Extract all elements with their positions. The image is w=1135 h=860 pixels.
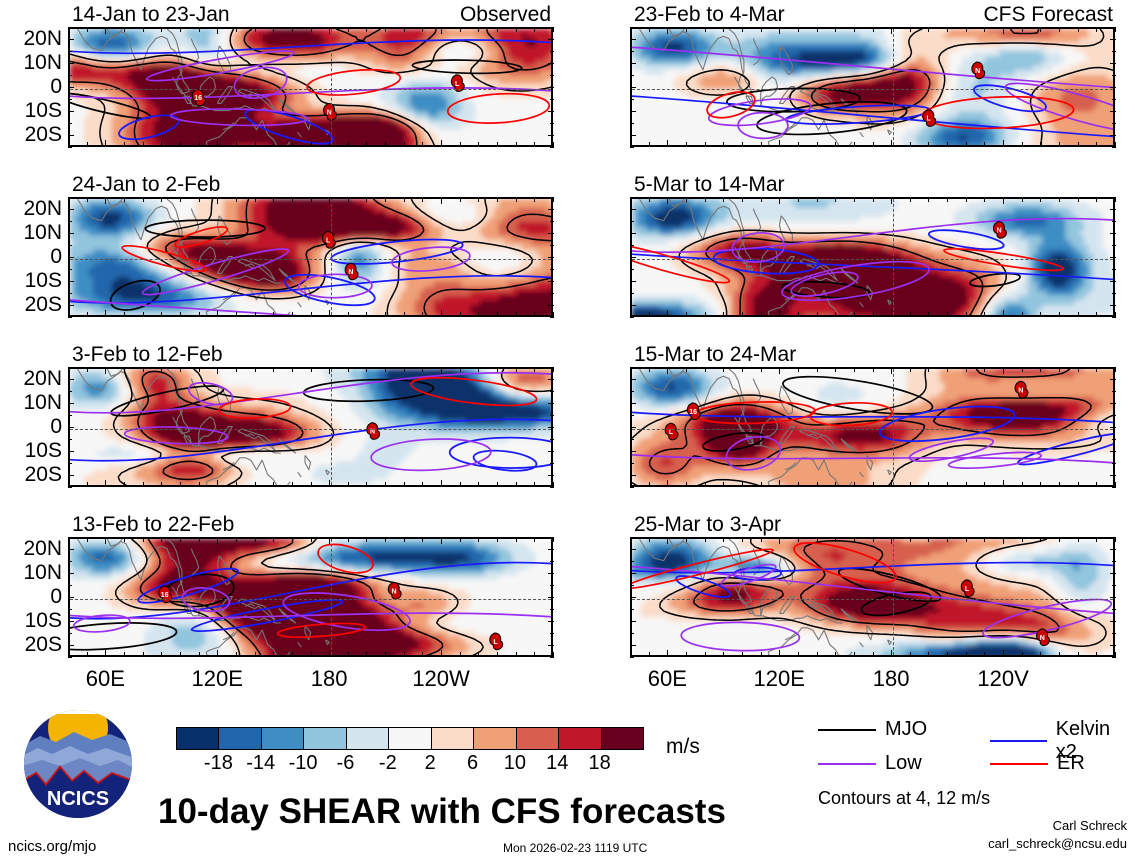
x-axis-minor-tick	[966, 537, 967, 542]
x-axis-minor-tick	[649, 652, 650, 657]
x-axis-minor-tick	[87, 142, 88, 147]
x-axis-minor-tick	[553, 197, 554, 202]
x-axis-minor-tick	[422, 537, 423, 542]
logo-wordmark: NCICS	[47, 788, 109, 810]
x-axis-minor-tick	[478, 652, 479, 657]
x-axis-minor-tick	[835, 367, 836, 372]
x-axis-minor-tick	[460, 142, 461, 147]
x-axis-minor-tick	[143, 27, 144, 32]
x-axis-minor-tick	[516, 197, 517, 202]
x-axis-minor-tick	[910, 537, 911, 542]
colorbar-swatch	[473, 728, 515, 749]
x-axis-tick	[329, 27, 330, 34]
x-axis-label: 120V	[977, 666, 1028, 692]
x-axis-minor-tick	[723, 197, 724, 202]
y-axis-minor-tick	[550, 51, 554, 52]
y-axis-tick	[630, 475, 636, 476]
y-axis-tick	[630, 645, 636, 646]
panel-title: 24-Jan to 2-Feb	[72, 173, 220, 197]
x-axis-minor-tick	[273, 482, 274, 487]
y-axis-label: 20S	[0, 634, 62, 655]
x-axis-minor-tick	[686, 142, 687, 147]
x-axis-tick	[779, 480, 780, 487]
y-axis-minor-tick	[68, 657, 72, 658]
x-axis-minor-tick	[742, 27, 743, 32]
colorbar-tick-label: -14	[246, 752, 275, 775]
x-axis-minor-tick	[255, 652, 256, 657]
y-axis-tick	[1110, 111, 1116, 112]
x-axis-minor-tick	[497, 537, 498, 542]
x-axis-minor-tick	[143, 197, 144, 202]
x-axis-minor-tick	[460, 537, 461, 542]
x-axis-minor-tick	[910, 367, 911, 372]
x-axis-minor-tick	[404, 537, 405, 542]
y-axis-minor-tick	[550, 221, 554, 222]
x-axis-minor-tick	[742, 367, 743, 372]
x-axis-tick	[105, 27, 106, 34]
y-axis-minor-tick	[550, 147, 554, 148]
x-axis-label: 60E	[648, 666, 687, 692]
x-axis-minor-tick	[1022, 482, 1023, 487]
x-axis-minor-tick	[87, 27, 88, 32]
x-axis-minor-tick	[497, 367, 498, 372]
x-axis-minor-tick	[1022, 197, 1023, 202]
y-axis-minor-tick	[630, 391, 634, 392]
x-axis-minor-tick	[817, 482, 818, 487]
dateline-line	[893, 29, 894, 145]
y-axis-tick	[1110, 451, 1116, 452]
x-axis-minor-tick	[742, 312, 743, 317]
y-axis-minor-tick	[68, 487, 72, 488]
x-axis-minor-tick	[1115, 482, 1116, 487]
x-axis-tick	[329, 197, 330, 204]
y-axis-minor-tick	[550, 75, 554, 76]
column-tag: CFS Forecast	[983, 3, 1113, 27]
x-axis-minor-tick	[87, 367, 88, 372]
y-axis-tick	[548, 621, 554, 622]
y-axis-tick	[68, 379, 74, 380]
x-axis-minor-tick	[984, 537, 985, 542]
x-axis-minor-tick	[87, 652, 88, 657]
y-axis-tick	[68, 111, 74, 112]
x-axis-minor-tick	[68, 142, 69, 147]
x-axis-tick	[779, 367, 780, 374]
y-axis-minor-tick	[550, 609, 554, 610]
x-axis-tick	[105, 650, 106, 657]
x-axis-tick	[217, 537, 218, 544]
x-axis-minor-tick	[723, 142, 724, 147]
colorbar-tick-label: -10	[289, 752, 318, 775]
shear-anomaly-shading	[70, 539, 553, 657]
x-axis-minor-tick	[705, 367, 706, 372]
x-axis-minor-tick	[404, 142, 405, 147]
dateline-line	[331, 29, 332, 145]
y-axis-tick	[68, 427, 74, 428]
x-axis-minor-tick	[348, 652, 349, 657]
colorbar-tick-label: 14	[546, 752, 568, 775]
x-axis-minor-tick	[292, 367, 293, 372]
y-axis-label: 20S	[0, 464, 62, 485]
y-axis-minor-tick	[630, 293, 634, 294]
x-axis-minor-tick	[742, 482, 743, 487]
y-axis-label: 20S	[0, 124, 62, 145]
cyclone-label: L	[455, 81, 460, 88]
x-axis-minor-tick	[385, 537, 386, 542]
map-panel: 14-Jan to 23-JanObservedNL16	[68, 27, 553, 147]
y-axis-tick	[548, 135, 554, 136]
x-axis-minor-tick	[649, 367, 650, 372]
x-axis-tick	[779, 537, 780, 544]
colorbar-tick-label: -18	[204, 752, 233, 775]
x-axis-minor-tick	[180, 142, 181, 147]
x-axis-minor-tick	[928, 652, 929, 657]
x-axis-tick	[441, 197, 442, 204]
x-axis-minor-tick	[630, 367, 631, 372]
x-axis-minor-tick	[686, 367, 687, 372]
y-axis-label: 10N	[0, 562, 62, 583]
x-axis-minor-tick	[723, 537, 724, 542]
y-axis-label: 10N	[0, 222, 62, 243]
x-axis-minor-tick	[1078, 27, 1079, 32]
x-axis-minor-tick	[311, 482, 312, 487]
x-axis-minor-tick	[478, 27, 479, 32]
cyclone-label: N	[1018, 387, 1023, 394]
x-axis-minor-tick	[1096, 367, 1097, 372]
y-axis-tick	[68, 257, 74, 258]
x-axis-minor-tick	[928, 312, 929, 317]
x-axis-minor-tick	[124, 482, 125, 487]
x-axis-tick	[105, 310, 106, 317]
x-axis-minor-tick	[366, 367, 367, 372]
x-axis-minor-tick	[761, 197, 762, 202]
x-axis-minor-tick	[798, 27, 799, 32]
cyclone-label: L	[493, 639, 498, 646]
y-axis-label: 20N	[0, 538, 62, 559]
x-axis-tick	[329, 140, 330, 147]
y-axis-minor-tick	[630, 317, 634, 318]
y-axis-minor-tick	[630, 487, 634, 488]
contour-interval-note: Contours at 4, 12 m/s	[818, 788, 990, 809]
x-axis-minor-tick	[947, 197, 948, 202]
x-axis-minor-tick	[161, 312, 162, 317]
x-axis-minor-tick	[761, 482, 762, 487]
x-axis-minor-tick	[1040, 142, 1041, 147]
x-axis-minor-tick	[1022, 537, 1023, 542]
x-axis-tick	[667, 650, 668, 657]
equator-line	[70, 429, 551, 430]
x-axis-minor-tick	[1022, 367, 1023, 372]
x-axis-tick	[891, 650, 892, 657]
legend-line-swatch	[990, 740, 1047, 742]
y-axis-tick	[630, 233, 636, 234]
x-axis-minor-tick	[478, 537, 479, 542]
x-axis-minor-tick	[835, 142, 836, 147]
y-axis-label: 10S	[0, 100, 62, 121]
x-axis-minor-tick	[292, 482, 293, 487]
colorbar-tick-label: 2	[425, 752, 436, 775]
cyclone-label: N	[391, 588, 396, 595]
y-axis-tick	[68, 403, 74, 404]
x-axis-minor-tick	[984, 482, 985, 487]
x-axis-minor-tick	[180, 482, 181, 487]
x-axis-tick	[217, 310, 218, 317]
x-axis-tick	[891, 367, 892, 374]
y-axis-tick	[1110, 427, 1116, 428]
x-axis-minor-tick	[422, 367, 423, 372]
x-axis-minor-tick	[1022, 652, 1023, 657]
y-axis-tick	[1110, 257, 1116, 258]
y-axis-tick	[68, 475, 74, 476]
x-axis-label: 180	[873, 666, 910, 692]
x-axis-minor-tick	[124, 197, 125, 202]
y-axis-minor-tick	[1112, 317, 1116, 318]
x-axis-minor-tick	[68, 482, 69, 487]
x-axis-minor-tick	[180, 537, 181, 542]
x-axis-minor-tick	[478, 367, 479, 372]
x-axis-minor-tick	[348, 367, 349, 372]
dateline-line	[331, 539, 332, 655]
y-axis-minor-tick	[630, 147, 634, 148]
y-axis-minor-tick	[630, 633, 634, 634]
x-axis-minor-tick	[366, 312, 367, 317]
equator-line	[632, 599, 1113, 600]
y-axis-tick	[548, 427, 554, 428]
x-axis-minor-tick	[947, 482, 948, 487]
y-axis-minor-tick	[630, 123, 634, 124]
x-axis-tick	[105, 140, 106, 147]
x-axis-minor-tick	[255, 482, 256, 487]
x-axis-minor-tick	[366, 482, 367, 487]
x-axis-minor-tick	[497, 482, 498, 487]
x-axis-minor-tick	[1115, 652, 1116, 657]
colorbar-tick-label: 10	[504, 752, 526, 775]
x-axis-minor-tick	[534, 312, 535, 317]
x-axis-minor-tick	[705, 482, 706, 487]
x-axis-minor-tick	[873, 142, 874, 147]
panel-plot-area: NL16	[68, 27, 553, 147]
x-axis-minor-tick	[798, 367, 799, 372]
equator-line	[70, 89, 551, 90]
y-axis-tick	[68, 135, 74, 136]
y-axis-minor-tick	[550, 293, 554, 294]
y-axis-label: 10N	[0, 52, 62, 73]
y-axis-minor-tick	[550, 657, 554, 658]
legend-item: Low	[818, 752, 922, 775]
legend-line-swatch	[818, 763, 876, 765]
x-axis-minor-tick	[947, 367, 948, 372]
panel-title: 13-Feb to 22-Feb	[72, 513, 234, 537]
x-axis-tick	[105, 537, 106, 544]
x-axis-minor-tick	[649, 312, 650, 317]
x-axis-minor-tick	[1040, 537, 1041, 542]
y-axis-minor-tick	[68, 633, 72, 634]
x-axis-minor-tick	[236, 197, 237, 202]
x-axis-minor-tick	[947, 27, 948, 32]
y-axis-tick	[68, 621, 74, 622]
x-axis-tick	[217, 367, 218, 374]
x-axis-minor-tick	[87, 197, 88, 202]
y-axis-minor-tick	[68, 123, 72, 124]
y-axis-tick	[548, 233, 554, 234]
x-axis-minor-tick	[686, 482, 687, 487]
x-axis-minor-tick	[348, 197, 349, 202]
x-axis-minor-tick	[798, 142, 799, 147]
y-axis-minor-tick	[68, 317, 72, 318]
y-axis-tick	[630, 63, 636, 64]
x-axis-minor-tick	[292, 197, 293, 202]
x-axis-minor-tick	[928, 142, 929, 147]
x-axis-minor-tick	[928, 197, 929, 202]
x-axis-minor-tick	[873, 312, 874, 317]
x-axis-minor-tick	[686, 197, 687, 202]
y-axis-tick	[630, 87, 636, 88]
x-axis-minor-tick	[143, 537, 144, 542]
x-axis-tick	[329, 480, 330, 487]
x-axis-minor-tick	[966, 27, 967, 32]
panel-plot-area: NL	[68, 197, 553, 317]
x-axis-minor-tick	[385, 312, 386, 317]
x-axis-minor-tick	[199, 367, 200, 372]
x-axis-minor-tick	[910, 142, 911, 147]
legend-label: ER	[1057, 752, 1085, 775]
x-axis-minor-tick	[478, 312, 479, 317]
x-axis-minor-tick	[1040, 482, 1041, 487]
cyclone-label: 16	[194, 95, 202, 102]
x-axis-minor-tick	[1040, 197, 1041, 202]
x-axis-minor-tick	[199, 482, 200, 487]
y-axis-minor-tick	[550, 439, 554, 440]
x-axis-minor-tick	[255, 312, 256, 317]
x-axis-minor-tick	[516, 27, 517, 32]
y-axis-tick	[548, 281, 554, 282]
y-axis-minor-tick	[630, 221, 634, 222]
y-axis-minor-tick	[630, 657, 634, 658]
x-axis-minor-tick	[1115, 197, 1116, 202]
cyclone-label: N	[348, 269, 353, 276]
x-axis-minor-tick	[928, 27, 929, 32]
y-axis-minor-tick	[550, 269, 554, 270]
y-axis-minor-tick	[1112, 585, 1116, 586]
y-axis-tick	[68, 645, 74, 646]
x-axis-tick	[441, 480, 442, 487]
x-axis-tick	[891, 197, 892, 204]
column-tag: Observed	[460, 3, 551, 27]
y-axis-minor-tick	[68, 147, 72, 148]
x-axis-minor-tick	[180, 652, 181, 657]
y-axis-minor-tick	[68, 51, 72, 52]
x-axis-minor-tick	[199, 142, 200, 147]
x-axis-minor-tick	[910, 482, 911, 487]
x-axis-minor-tick	[460, 27, 461, 32]
y-axis-tick	[548, 475, 554, 476]
x-axis-minor-tick	[1059, 652, 1060, 657]
y-axis-tick	[548, 209, 554, 210]
map-panel: 15-Mar to 24-MarNL16	[630, 367, 1115, 487]
x-axis-minor-tick	[630, 197, 631, 202]
x-axis-tick	[891, 27, 892, 34]
x-axis-minor-tick	[516, 482, 517, 487]
x-axis-tick	[1003, 310, 1004, 317]
x-axis-minor-tick	[854, 482, 855, 487]
x-axis-minor-tick	[478, 482, 479, 487]
x-axis-minor-tick	[817, 652, 818, 657]
x-axis-minor-tick	[497, 652, 498, 657]
y-axis-tick	[630, 135, 636, 136]
x-axis-minor-tick	[273, 142, 274, 147]
x-axis-tick	[441, 650, 442, 657]
x-axis-minor-tick	[292, 537, 293, 542]
cyclone-label: L	[965, 586, 970, 593]
x-axis-minor-tick	[798, 312, 799, 317]
x-axis-minor-tick	[1078, 482, 1079, 487]
x-axis-minor-tick	[404, 27, 405, 32]
panel-title: 5-Mar to 14-Mar	[634, 173, 785, 197]
y-axis-label: 10N	[0, 392, 62, 413]
y-axis-minor-tick	[68, 415, 72, 416]
x-axis-minor-tick	[534, 537, 535, 542]
panel-title: 3-Feb to 12-Feb	[72, 343, 223, 367]
x-axis-minor-tick	[761, 27, 762, 32]
x-axis-minor-tick	[87, 312, 88, 317]
x-axis-minor-tick	[835, 537, 836, 542]
y-axis-minor-tick	[550, 415, 554, 416]
y-axis-minor-tick	[68, 391, 72, 392]
x-axis-minor-tick	[835, 27, 836, 32]
y-axis-tick	[68, 573, 74, 574]
y-axis-minor-tick	[1112, 657, 1116, 658]
x-axis-minor-tick	[273, 367, 274, 372]
x-axis-minor-tick	[873, 197, 874, 202]
x-axis-minor-tick	[966, 142, 967, 147]
x-axis-minor-tick	[854, 197, 855, 202]
x-axis-minor-tick	[143, 482, 144, 487]
x-axis-minor-tick	[143, 312, 144, 317]
x-axis-minor-tick	[1059, 537, 1060, 542]
x-axis-minor-tick	[1115, 367, 1116, 372]
y-axis-label: 20N	[0, 368, 62, 389]
y-axis-minor-tick	[630, 99, 634, 100]
y-axis-tick	[548, 403, 554, 404]
y-axis-minor-tick	[630, 245, 634, 246]
x-axis-minor-tick	[1115, 142, 1116, 147]
x-axis-minor-tick	[180, 197, 181, 202]
colorbar-tick-label: -2	[379, 752, 397, 775]
equator-line	[632, 259, 1113, 260]
x-axis-minor-tick	[478, 197, 479, 202]
x-axis-minor-tick	[630, 312, 631, 317]
x-axis-minor-tick	[1040, 312, 1041, 317]
x-axis-minor-tick	[649, 142, 650, 147]
y-axis-minor-tick	[68, 463, 72, 464]
x-axis-minor-tick	[68, 27, 69, 32]
y-axis-tick	[68, 233, 74, 234]
x-axis-tick	[217, 480, 218, 487]
x-axis-tick	[779, 27, 780, 34]
x-axis-minor-tick	[161, 537, 162, 542]
x-axis-minor-tick	[161, 482, 162, 487]
cyclone-label: L	[669, 429, 674, 436]
y-axis-minor-tick	[1112, 147, 1116, 148]
y-axis-minor-tick	[1112, 391, 1116, 392]
x-axis-minor-tick	[630, 652, 631, 657]
x-axis-minor-tick	[761, 367, 762, 372]
y-axis-minor-tick	[1112, 269, 1116, 270]
panel-plot-area: NL	[630, 27, 1115, 147]
colorbar-swatch	[218, 728, 260, 749]
x-axis-minor-tick	[723, 27, 724, 32]
y-axis-tick	[548, 257, 554, 258]
x-axis-tick	[105, 480, 106, 487]
